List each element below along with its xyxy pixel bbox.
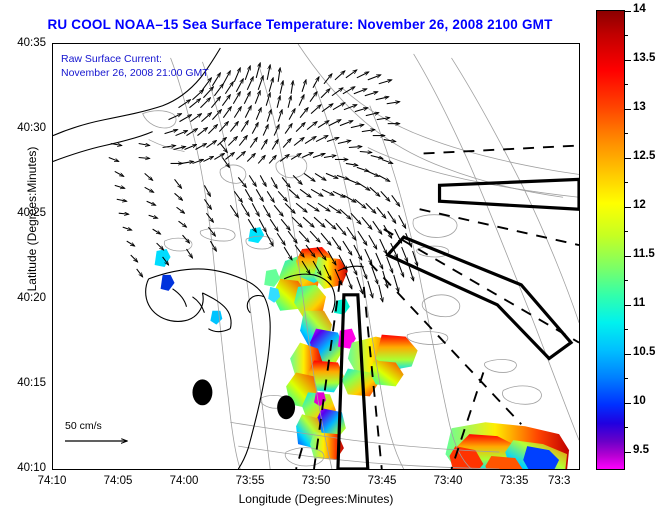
cblabel-1: 13.5 <box>633 52 655 64</box>
xtick-label-2: 74:00 <box>154 475 214 487</box>
station-marker-east <box>277 395 295 419</box>
temperature-colorbar[interactable] <box>596 10 625 470</box>
cbtick-13 <box>625 109 631 110</box>
y-axis-title: Latitude (Degrees:Minutes) <box>25 99 39 339</box>
xtick-label-4: 73:50 <box>286 475 346 487</box>
map-canvas <box>53 44 579 469</box>
cblabel-5: 11.5 <box>633 248 655 260</box>
x-axis-title: Longitude (Degrees:Minutes) <box>52 492 580 506</box>
cbtick-9p5 <box>625 452 631 453</box>
cbtick-14 <box>625 11 631 12</box>
annotation-line-2: November 26, 2008 21:00 GMT <box>61 66 209 80</box>
xtick-label-3: 73:55 <box>220 475 280 487</box>
cbtick-11p5 <box>625 256 631 257</box>
ytick-label-4: 40:15 <box>0 377 46 389</box>
cbminor-8 <box>625 378 628 379</box>
cbminor-7 <box>625 329 628 330</box>
ytick-label-3: 40:20 <box>0 292 46 304</box>
cbtick-10p5 <box>625 354 631 355</box>
annotation-block: Raw Surface Current: November 26, 2008 2… <box>61 52 209 80</box>
ytick-label-5: 40:10 <box>0 462 46 474</box>
cbminor-9 <box>625 427 628 428</box>
bathymetry-contours <box>143 44 579 469</box>
cbminor-2 <box>625 84 628 85</box>
velocity-scale-legend: 50 cm/s <box>61 420 139 451</box>
cbtick-12p5 <box>625 158 631 159</box>
xtick-label-7: 73:35 <box>484 475 544 487</box>
annotation-line-1: Raw Surface Current: <box>61 52 209 66</box>
cblabel-8: 10 <box>633 395 646 407</box>
xtick-label-0: 74:10 <box>22 475 82 487</box>
cblabel-6: 11 <box>633 297 645 309</box>
cblabel-3: 12.5 <box>633 150 655 162</box>
surface-current-vectors <box>109 63 418 302</box>
ytick-label-1: 40:30 <box>0 122 46 134</box>
cblabel-2: 13 <box>633 101 646 113</box>
cbminor-5 <box>625 231 628 232</box>
sst-figure: RU COOL NOAA–15 Sea Surface Temperature:… <box>0 0 660 519</box>
station-markers[interactable] <box>192 379 295 419</box>
page-title: RU COOL NOAA–15 Sea Surface Temperature:… <box>0 17 600 32</box>
xtick-label-1: 74:05 <box>88 475 148 487</box>
ytick-label-2: 40:25 <box>0 207 46 219</box>
scalebar-label: 50 cm/s <box>61 420 139 432</box>
map-plot-area[interactable]: Raw Surface Current: November 26, 2008 2… <box>52 43 580 470</box>
cblabel-7: 10.5 <box>633 346 655 358</box>
xtick-label-5: 73:45 <box>352 475 412 487</box>
cblabel-4: 12 <box>633 199 646 211</box>
cbminor-1 <box>625 35 628 36</box>
cbtick-13p5 <box>625 60 631 61</box>
right-arrow-icon <box>61 434 139 448</box>
cbminor-4 <box>625 182 628 183</box>
cbminor-3 <box>625 133 628 134</box>
xtick-label-6: 73:40 <box>418 475 478 487</box>
station-marker-west <box>192 379 212 405</box>
cblabel-0: 14 <box>633 3 646 15</box>
cbtick-12 <box>625 207 631 208</box>
cbminor-6 <box>625 280 628 281</box>
xtick-label-8: 73:3 <box>548 475 592 487</box>
ytick-label-0: 40:35 <box>0 37 46 49</box>
cbtick-10 <box>625 403 631 404</box>
cblabel-9: 9.5 <box>633 444 649 456</box>
cbtick-11 <box>625 305 631 306</box>
